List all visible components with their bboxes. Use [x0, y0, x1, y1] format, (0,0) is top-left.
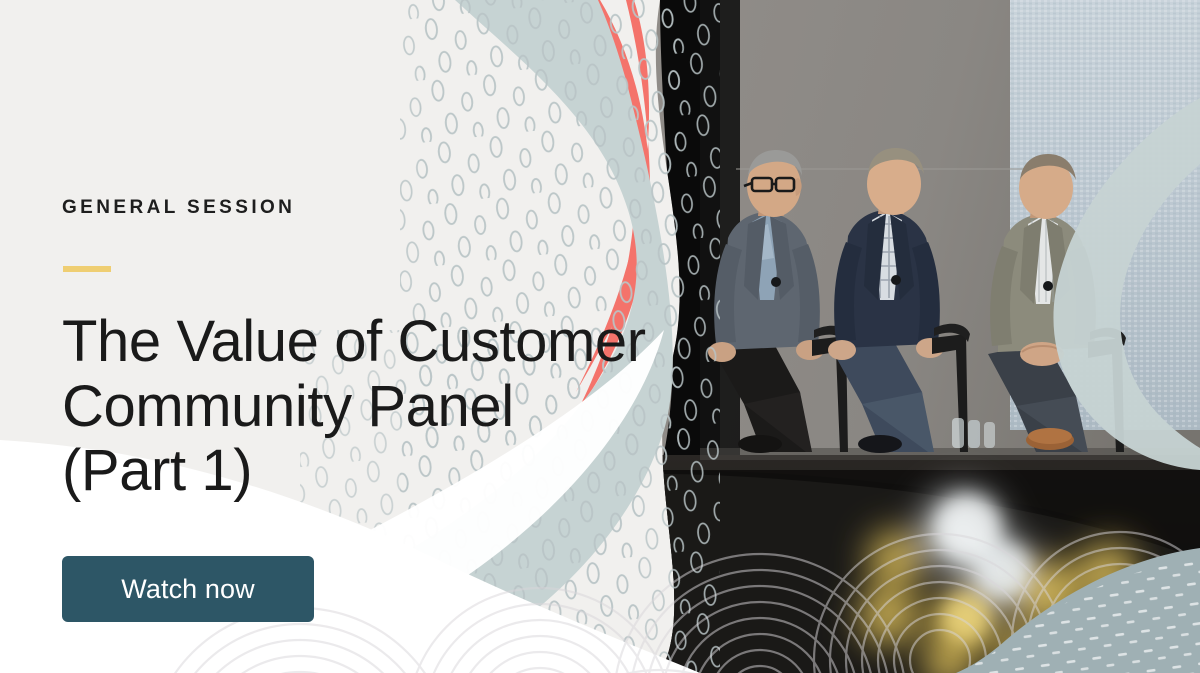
page-title: The Value of Customer Community Panel (P…	[62, 310, 702, 504]
session-promo-card: GENERAL SESSION The Value of Customer Co…	[0, 0, 1200, 673]
session-category-label: GENERAL SESSION	[62, 198, 295, 217]
headline-line-2: Community Panel	[62, 375, 702, 440]
headline-line-3: (Part 1)	[62, 439, 702, 504]
bottom-right-sage	[940, 540, 1200, 673]
headline-line-1: The Value of Customer	[62, 310, 702, 375]
gold-accent-rule	[63, 266, 111, 272]
sage-tail-shape	[1053, 98, 1200, 470]
watch-now-button[interactable]: Watch now	[62, 556, 314, 622]
